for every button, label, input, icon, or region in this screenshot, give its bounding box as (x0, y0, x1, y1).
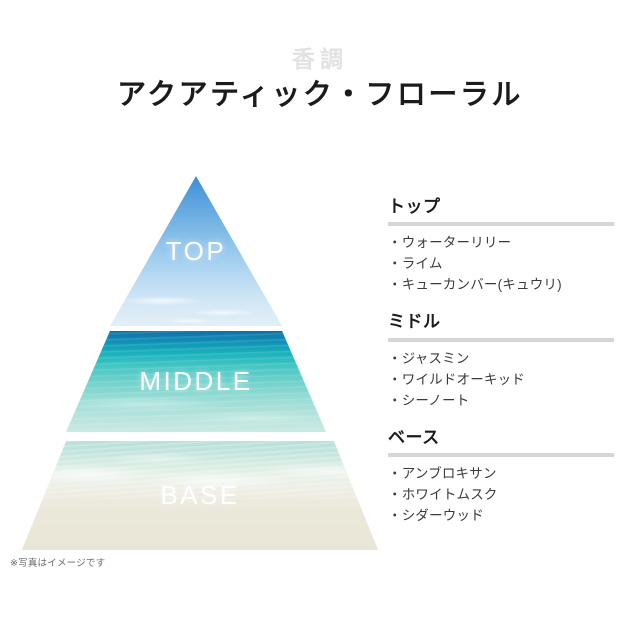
cloud-wisp-texture (110, 284, 282, 326)
notes-column: トップ ・ウォーターリリー ・ライム ・キューカンバー(キュウリ) ミドル ・ジ… (388, 196, 614, 526)
fragrance-notes-page: 香調 アクアティック・フローラル TOP MIDDLE BASE トップ ・ウォ… (0, 0, 640, 640)
note-section-middle: ミドル ・ジャスミン ・ワイルドオーキッド ・シーノート (388, 311, 614, 410)
note-heading-middle: ミドル (388, 311, 614, 332)
note-list-top: ・ウォーターリリー ・ライム ・キューカンバー(キュウリ) (388, 232, 614, 295)
note-list-base: ・アンブロキサン ・ホワイトムスク ・シダーウッド (388, 463, 614, 526)
pyramid-tier-middle-label: MIDDLE (139, 366, 252, 397)
note-heading-base: ベース (388, 427, 614, 448)
pyramid-tier-top: TOP (110, 176, 282, 326)
list-item: ・ホワイトムスク (388, 484, 614, 505)
note-divider-base (388, 453, 614, 457)
note-section-top: トップ ・ウォーターリリー ・ライム ・キューカンバー(キュウリ) (388, 196, 614, 295)
image-disclaimer-footnote: ※写真はイメージです (10, 555, 105, 569)
list-item: ・アンブロキサン (388, 463, 614, 484)
note-heading-top: トップ (388, 196, 614, 217)
list-item: ・キューカンバー(キュウリ) (388, 274, 614, 295)
list-item: ・ウォーターリリー (388, 232, 614, 253)
list-item: ・ワイルドオーキッド (388, 369, 614, 390)
note-divider-middle (388, 338, 614, 342)
pyramid-tier-base: BASE (22, 441, 378, 550)
note-section-base: ベース ・アンブロキサン ・ホワイトムスク ・シダーウッド (388, 427, 614, 526)
pyramid-tier-top-label: TOP (166, 236, 226, 267)
list-item: ・シダーウッド (388, 505, 614, 526)
note-list-middle: ・ジャスミン ・ワイルドオーキッド ・シーノート (388, 348, 614, 411)
list-item: ・ライム (388, 253, 614, 274)
list-item: ・ジャスミン (388, 348, 614, 369)
note-divider-top (388, 222, 614, 226)
pyramid-tier-base-label: BASE (160, 480, 239, 511)
list-item: ・シーノート (388, 390, 614, 411)
fragrance-pyramid: TOP MIDDLE BASE (0, 0, 400, 640)
pyramid-tier-middle: MIDDLE (66, 331, 326, 432)
